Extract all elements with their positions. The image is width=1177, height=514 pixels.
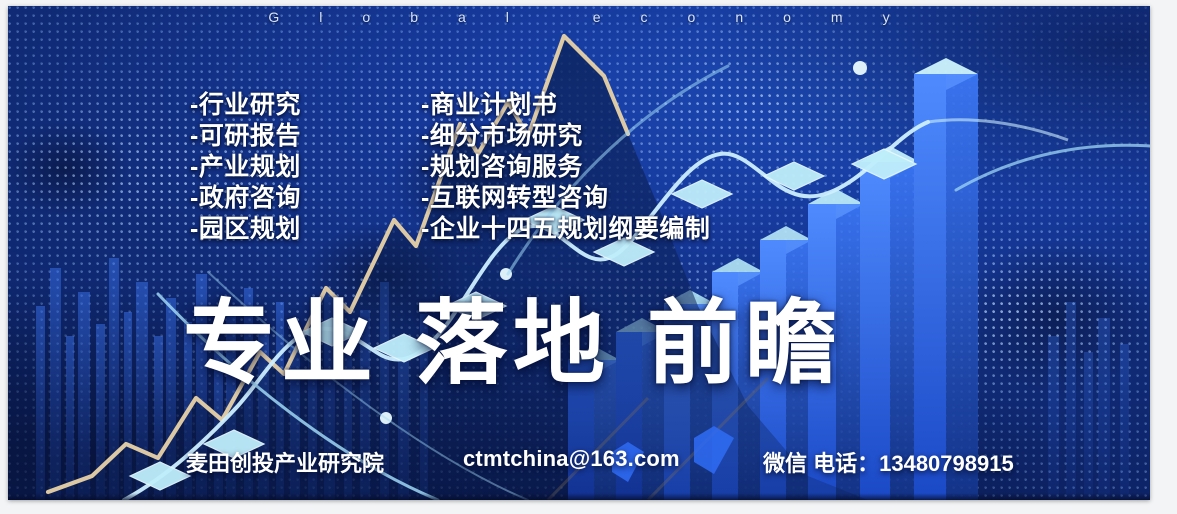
services-list-left: -行业研究 -可研报告 -产业规划 -政府咨询 -园区规划	[190, 90, 301, 245]
service-item: -政府咨询	[190, 183, 301, 214]
headline: 专业落地前瞻	[183, 298, 843, 390]
chart-artwork	[8, 6, 1150, 500]
service-item: -企业十四五规划纲要编制	[421, 214, 710, 245]
top-tagline: Global economy	[8, 9, 1150, 25]
headline-word-2: 落地	[415, 293, 611, 395]
service-item: -商业计划书	[421, 90, 710, 121]
banner-stage: Global economy -行业研究 -可研报告 -产业规划 -政府咨询 -…	[8, 6, 1150, 500]
banner-image: Global economy -行业研究 -可研报告 -产业规划 -政府咨询 -…	[0, 0, 1177, 514]
service-item: -互联网转型咨询	[421, 183, 710, 214]
email-address[interactable]: ctmtchina@163.com	[463, 446, 680, 472]
service-item: -可研报告	[190, 121, 301, 152]
organization-name: 麦田创投产业研究院	[186, 446, 384, 478]
footer-contact-row: 麦田创投产业研究院 ctmtchina@163.com 微信 电话：134807…	[8, 446, 1150, 476]
bottom-shadow-edge	[8, 493, 1150, 500]
services-list-right: -商业计划书 -细分市场研究 -规划咨询服务 -互联网转型咨询 -企业十四五规划…	[421, 90, 710, 245]
phone-wechat: 微信 电话：13480798915	[763, 446, 1014, 478]
headline-word-1: 专业	[183, 293, 379, 395]
headline-word-3: 前瞻	[647, 293, 843, 395]
service-item: -产业规划	[190, 152, 301, 183]
service-item: -细分市场研究	[421, 121, 710, 152]
service-item: -行业研究	[190, 90, 301, 121]
service-item: -园区规划	[190, 214, 301, 245]
service-item: -规划咨询服务	[421, 152, 710, 183]
